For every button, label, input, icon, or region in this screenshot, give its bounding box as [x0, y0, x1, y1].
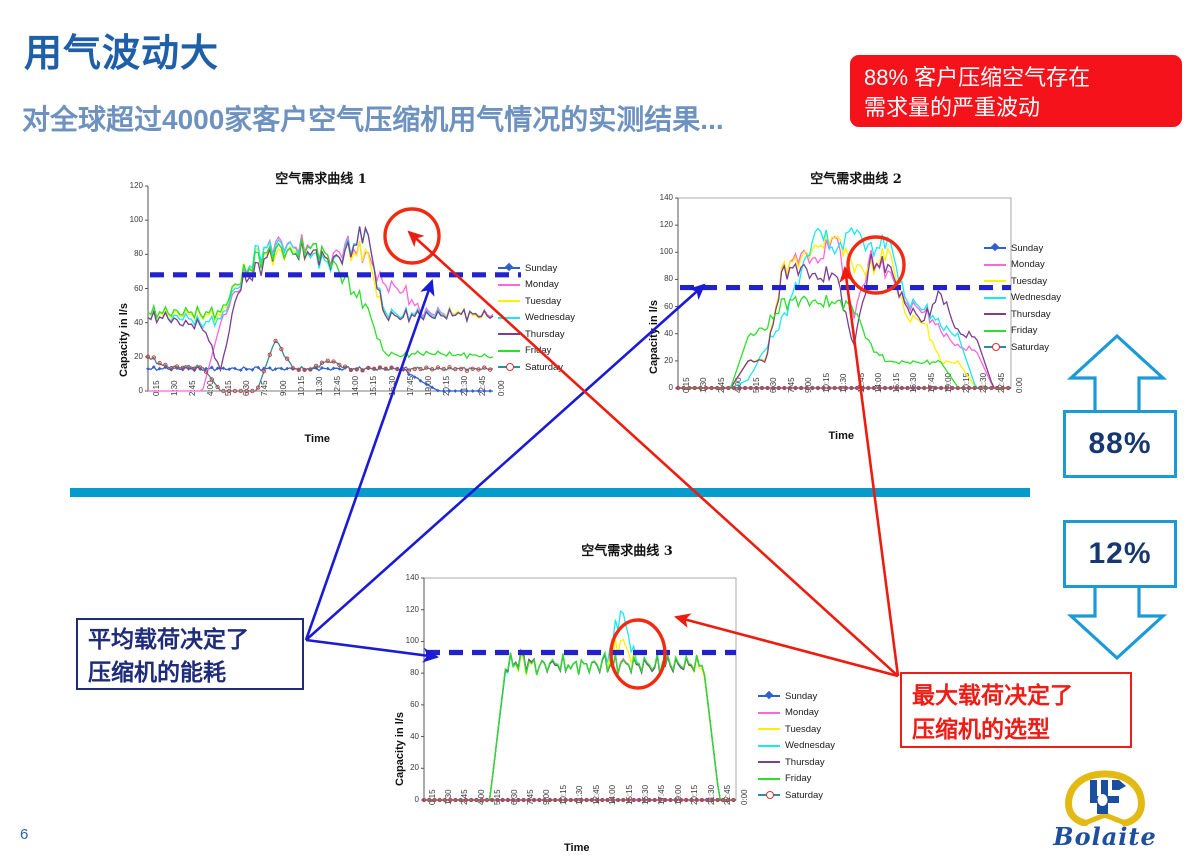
page-subtitle: 对全球超过4000家客户空气压缩机用气情况的实测结果... [22, 98, 724, 138]
x-axis-label: Time [564, 842, 589, 854]
legend-item-wednesday: Wednesday [498, 310, 575, 327]
legend-label: Monday [785, 707, 819, 718]
legend-swatch-wednesday [498, 317, 520, 319]
series-wednesday [424, 611, 736, 800]
chart-air-demand-curve-2: 空气需求曲线 2Capacity in l/s02040608010012014… [636, 168, 1076, 430]
legend-label: Friday [1011, 325, 1037, 336]
percent-box-88: 88% [1063, 410, 1177, 478]
marker-sunday [471, 389, 475, 393]
legend-label: Monday [1011, 259, 1045, 270]
slide-root: 用气波动大 对全球超过4000家客户空气压缩机用气情况的实测结果... 88% … [0, 0, 1200, 856]
legend-swatch-saturday [498, 366, 520, 368]
legend-item-friday: Friday [758, 771, 835, 788]
callout-max-load: 最大载荷决定了 压缩机的选型 [900, 672, 1132, 748]
legend-label: Tuesday [1011, 276, 1047, 287]
legend-swatch-sunday [498, 267, 520, 269]
legend-item-monday: Monday [984, 257, 1061, 274]
legend-swatch-monday [984, 264, 1006, 266]
legend-label: Tuesday [525, 296, 561, 307]
marker-sunday [442, 389, 446, 393]
legend-item-saturday: Saturday [758, 787, 835, 804]
series-friday [678, 295, 1011, 388]
marker-sunday [482, 389, 486, 393]
logo-wordmark: Bolaite [1030, 822, 1180, 851]
legend-item-sunday: Sunday [984, 240, 1061, 257]
legend-label: Wednesday [525, 312, 575, 323]
legend-swatch-wednesday [758, 745, 780, 747]
legend-item-thursday: Thursday [758, 754, 835, 771]
legend-label: Saturday [785, 790, 823, 801]
chart-air-demand-curve-1: 空气需求曲线 1Capacity in l/s0204060801001200:… [106, 168, 536, 430]
series-monday [424, 653, 736, 800]
legend-swatch-friday [984, 330, 1006, 332]
legend-swatch-monday [758, 712, 780, 714]
legend-item-friday: Friday [498, 343, 575, 360]
legend-item-wednesday: Wednesday [984, 290, 1061, 307]
plot-area [106, 168, 536, 430]
legend-item-tuesday: Tuesday [498, 293, 575, 310]
diamond-marker-icon [765, 691, 773, 699]
marker-sunday [465, 389, 469, 393]
x-axis-label: Time [829, 430, 854, 442]
legend-swatch-tuesday [758, 728, 780, 730]
chart-air-demand-curve-3: 空气需求曲线 3Capacity in l/s02040608010012014… [372, 540, 882, 840]
legend-item-saturday: Saturday [498, 359, 575, 376]
series-thursday [148, 227, 493, 371]
percent-arrow-column: 88% 12% [1063, 332, 1171, 662]
legend-swatch-saturday [984, 346, 1006, 348]
legend-label: Friday [525, 345, 551, 356]
legend-swatch-sunday [758, 695, 780, 697]
diamond-marker-icon [505, 263, 513, 271]
marker-sunday [453, 389, 457, 393]
marker-sunday [488, 389, 492, 393]
callout-average-load: 平均载荷决定了 压缩机的能耗 [76, 618, 304, 690]
legend-item-thursday: Thursday [984, 306, 1061, 323]
red-callout-banner: 88% 客户压缩空气存在 需求量的严重波动 [850, 55, 1182, 127]
bolaite-logo: Bolaite [1030, 768, 1180, 852]
legend-label: Sunday [785, 691, 817, 702]
peak-highlight-circle [385, 209, 439, 263]
marker-sunday [448, 389, 452, 393]
circle-marker-icon [992, 343, 1000, 351]
legend-label: Sunday [525, 263, 557, 274]
legend-item-sunday: Sunday [758, 688, 835, 705]
series-friday [148, 238, 493, 358]
legend-label: Saturday [525, 362, 563, 373]
horizontal-divider [70, 488, 1030, 497]
series-thursday [424, 650, 736, 800]
legend-swatch-tuesday [984, 280, 1006, 282]
legend-label: Thursday [1011, 309, 1051, 320]
legend-swatch-tuesday [498, 300, 520, 302]
legend-label: Thursday [785, 757, 825, 768]
legend-swatch-wednesday [984, 297, 1006, 299]
legend-item-friday: Friday [984, 323, 1061, 340]
legend-label: Wednesday [1011, 292, 1061, 303]
legend-item-monday: Monday [758, 705, 835, 722]
chart-legend: SundayMondayTuesdayWednesdayThursdayFrid… [758, 688, 835, 804]
series-thursday [678, 254, 1011, 388]
legend-item-tuesday: Tuesday [758, 721, 835, 738]
legend-item-tuesday: Tuesday [984, 273, 1061, 290]
legend-label: Monday [525, 279, 559, 290]
legend-item-wednesday: Wednesday [758, 738, 835, 755]
legend-swatch-thursday [758, 761, 780, 763]
legend-label: Sunday [1011, 243, 1043, 254]
marker-sunday [146, 367, 150, 371]
legend-swatch-thursday [498, 333, 520, 335]
legend-item-saturday: Saturday [984, 339, 1061, 356]
legend-label: Wednesday [785, 740, 835, 751]
series-tuesday [678, 232, 1011, 388]
percent-box-12: 12% [1063, 520, 1177, 588]
chart-legend: SundayMondayTuesdayWednesdayThursdayFrid… [498, 260, 575, 376]
legend-label: Thursday [525, 329, 565, 340]
page-number: 6 [20, 826, 28, 843]
circle-marker-icon [766, 791, 774, 799]
series-friday [424, 653, 736, 800]
legend-label: Saturday [1011, 342, 1049, 353]
circle-marker-icon [506, 363, 514, 371]
marker-sunday [477, 389, 481, 393]
marker-sunday [459, 389, 463, 393]
bolaite-crest-icon [1030, 768, 1180, 826]
legend-swatch-friday [758, 778, 780, 780]
legend-item-monday: Monday [498, 277, 575, 294]
legend-swatch-sunday [984, 247, 1006, 249]
chart-legend: SundayMondayTuesdayWednesdayThursdayFrid… [984, 240, 1061, 356]
legend-label: Friday [785, 773, 811, 784]
legend-swatch-monday [498, 284, 520, 286]
legend-swatch-friday [498, 350, 520, 352]
x-axis-label: Time [305, 433, 330, 445]
legend-label: Tuesday [785, 724, 821, 735]
legend-item-sunday: Sunday [498, 260, 575, 277]
plot-border [678, 198, 1011, 388]
legend-item-thursday: Thursday [498, 326, 575, 343]
legend-swatch-saturday [758, 794, 780, 796]
plot-border [424, 578, 736, 800]
legend-swatch-thursday [984, 313, 1006, 315]
diamond-marker-icon [991, 243, 999, 251]
page-title: 用气波动大 [24, 22, 219, 77]
